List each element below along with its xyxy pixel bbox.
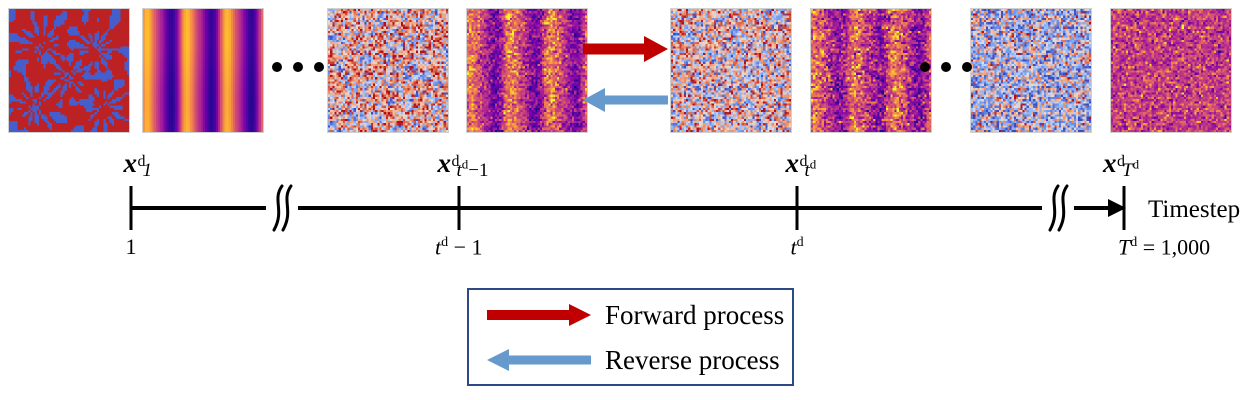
image-panel-x1-stripes [142,8,264,133]
ellipsis-dot [314,62,324,72]
process-legend: Forward process Reverse process [467,288,794,386]
image-panel-x1-clean-canvas [9,9,129,132]
tick-t-minus-1-label: td − 1 [435,236,483,258]
image-panel-x1-stripes-canvas [143,9,263,132]
image-panel-xt-coolwarm [670,8,792,133]
axis-break-left [274,186,291,230]
image-panel-xT-plasma-canvas [1111,9,1231,132]
tick-t-label: td [791,236,804,258]
forward-arrow-icon [487,304,591,326]
legend-item-reverse: Reverse process [469,338,792,382]
ellipsis-dot [920,62,930,72]
image-panel-x1-clean [8,8,130,133]
legend-label-reverse: Reverse process [605,345,780,376]
legend-label-forward: Forward process [605,300,784,331]
image-panel-xt-coolwarm-canvas [671,9,791,132]
tick-1-label: 1 [126,236,137,258]
image-panel-xt-minus-1-coolwarm-canvas [328,9,448,132]
image-panel-xt-minus-1-plasma-canvas [467,9,587,132]
legend-item-forward: Forward process [469,293,792,337]
ellipsis-right [920,62,972,72]
var-xt: xdtd [786,150,817,180]
var-xT: xdTd [1103,150,1139,180]
image-panel-xT-plasma [1110,8,1232,133]
ellipsis-left [272,62,324,72]
ellipsis-dot [272,62,282,72]
image-panel-xT-coolwarm [970,8,1092,133]
image-panel-xt-minus-1-plasma [466,8,588,133]
ellipsis-dot [293,62,303,72]
var-x1: xd1 [124,150,153,180]
ellipsis-dot [941,62,951,72]
image-panel-xt-plasma-canvas [811,9,931,132]
reverse-process-arrow [583,88,668,112]
var-xt-minus: xdtd−1 [438,150,489,180]
image-panel-xT-coolwarm-canvas [971,9,1091,132]
reverse-arrow-icon [487,349,591,371]
tick-T-label: Td = 1,000 [1118,236,1210,258]
image-panel-xt-minus-1-coolwarm [327,8,449,133]
diffusion-timeline-figure: xd1xdtd−1xdtdxdTd 1td − 1tdTd = 1,000 Ti… [0,0,1256,400]
forward-process-arrow [583,36,668,62]
axis-break-right [1050,186,1067,230]
image-panel-xt-plasma [810,8,932,133]
ellipsis-dot [962,62,972,72]
axis-title: Timestep [1148,196,1240,224]
axis-arrowhead [1108,199,1126,217]
